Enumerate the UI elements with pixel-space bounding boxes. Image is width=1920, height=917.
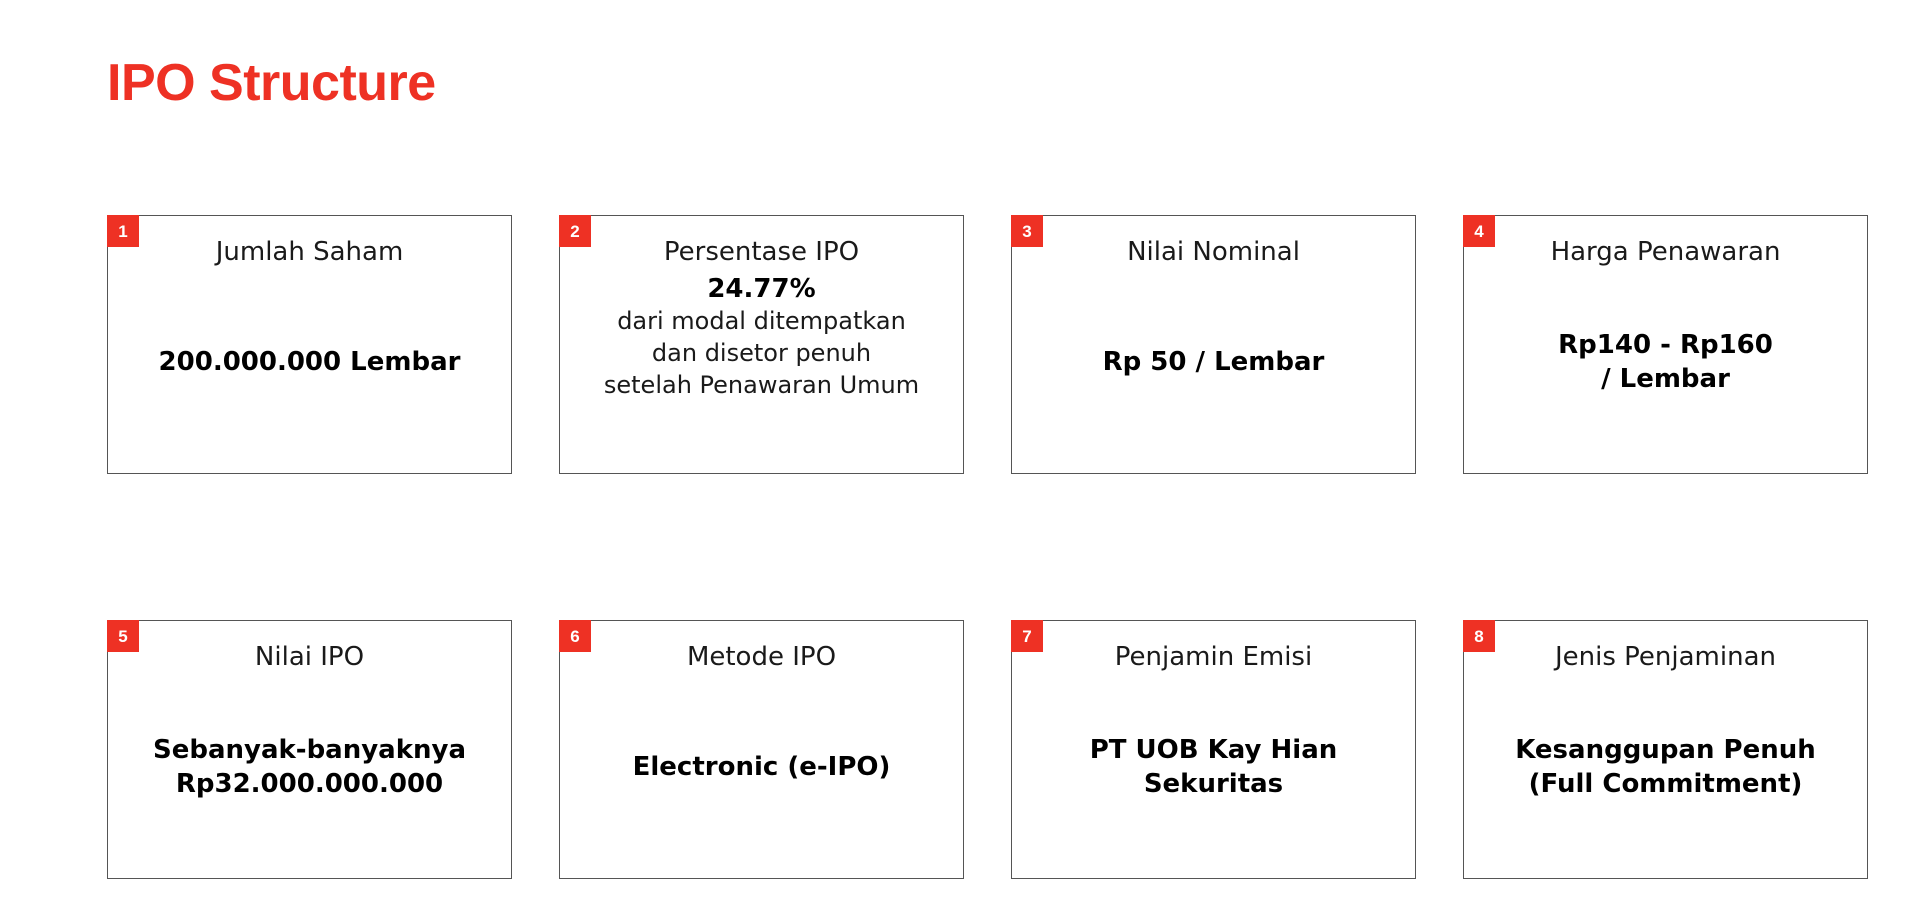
card-row-2: 5 Nilai IPO Sebanyak-banyaknya Rp32.000.… xyxy=(107,620,1881,879)
card-title: Persentase IPO xyxy=(664,236,859,269)
card-number-badge: 5 xyxy=(107,620,139,652)
card-title: Jumlah Saham xyxy=(216,236,404,269)
card-number-badge: 3 xyxy=(1011,215,1043,247)
card-value: Electronic (e-IPO) xyxy=(633,751,891,785)
card-content: Jenis Penjaminan Kesanggupan Penuh (Full… xyxy=(1464,621,1867,878)
card-value: PT UOB Kay Hian Sekuritas xyxy=(1090,734,1338,802)
card-value: Kesanggupan Penuh (Full Commitment) xyxy=(1515,734,1816,802)
ipo-card-5[interactable]: 5 Nilai IPO Sebanyak-banyaknya Rp32.000.… xyxy=(107,620,512,879)
card-subtext: dari modal ditempatkan dan disetor penuh… xyxy=(604,306,919,401)
card-content: Nilai Nominal Rp 50 / Lembar xyxy=(1012,216,1415,473)
ipo-card-8[interactable]: 8 Jenis Penjaminan Kesanggupan Penuh (Fu… xyxy=(1463,620,1868,879)
card-number-badge: 2 xyxy=(559,215,591,247)
card-content: Harga Penawaran Rp140 - Rp160 / Lembar xyxy=(1464,216,1867,473)
card-content: Jumlah Saham 200.000.000 Lembar xyxy=(108,216,511,473)
card-title: Nilai Nominal xyxy=(1127,236,1300,269)
page-title: IPO Structure xyxy=(107,55,436,112)
card-row-1: 1 Jumlah Saham 200.000.000 Lembar 2 Pers… xyxy=(107,215,1881,474)
ipo-structure-card-grid: 1 Jumlah Saham 200.000.000 Lembar 2 Pers… xyxy=(107,215,1881,879)
card-number-badge: 7 xyxy=(1011,620,1043,652)
card-value: Rp140 - Rp160 / Lembar xyxy=(1558,329,1773,397)
card-title: Harga Penawaran xyxy=(1551,236,1781,269)
ipo-card-3[interactable]: 3 Nilai Nominal Rp 50 / Lembar xyxy=(1011,215,1416,474)
card-number-badge: 8 xyxy=(1463,620,1495,652)
slide-canvas: IPO Structure 1 Jumlah Saham 200.000.000… xyxy=(0,0,1920,917)
card-title: Penjamin Emisi xyxy=(1115,641,1312,674)
card-number-badge: 6 xyxy=(559,620,591,652)
card-value: 200.000.000 Lembar xyxy=(159,346,461,380)
card-content: Penjamin Emisi PT UOB Kay Hian Sekuritas xyxy=(1012,621,1415,878)
card-content: Nilai IPO Sebanyak-banyaknya Rp32.000.00… xyxy=(108,621,511,878)
ipo-card-7[interactable]: 7 Penjamin Emisi PT UOB Kay Hian Sekurit… xyxy=(1011,620,1416,879)
card-title: Metode IPO xyxy=(687,641,836,674)
card-number-badge: 4 xyxy=(1463,215,1495,247)
card-content: Persentase IPO 24.77% dari modal ditempa… xyxy=(560,216,963,473)
card-value: Sebanyak-banyaknya Rp32.000.000.000 xyxy=(153,734,466,802)
card-value: Rp 50 / Lembar xyxy=(1103,346,1325,380)
card-value: 24.77% xyxy=(707,273,815,307)
card-content: Metode IPO Electronic (e-IPO) xyxy=(560,621,963,878)
card-title: Nilai IPO xyxy=(255,641,364,674)
ipo-card-4[interactable]: 4 Harga Penawaran Rp140 - Rp160 / Lembar xyxy=(1463,215,1868,474)
ipo-card-1[interactable]: 1 Jumlah Saham 200.000.000 Lembar xyxy=(107,215,512,474)
ipo-card-2[interactable]: 2 Persentase IPO 24.77% dari modal ditem… xyxy=(559,215,964,474)
card-number-badge: 1 xyxy=(107,215,139,247)
card-title: Jenis Penjaminan xyxy=(1555,641,1776,674)
ipo-card-6[interactable]: 6 Metode IPO Electronic (e-IPO) xyxy=(559,620,964,879)
